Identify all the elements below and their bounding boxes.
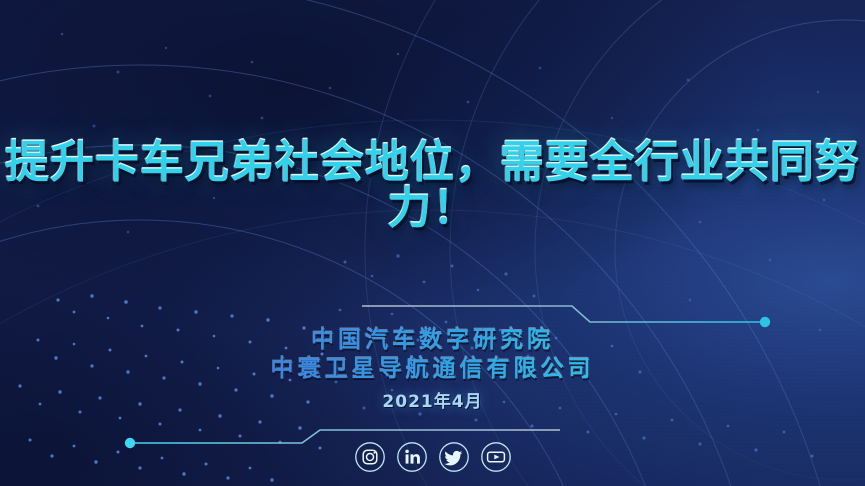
presentation-date: 2021年4月 [0,387,865,412]
decorative-connector-lines [0,0,865,486]
page-title: 提升卡车兄弟社会地位，需要全行业共同努力！ [0,140,865,232]
subtitle-container: 中国汽车数字研究院 中寰卫星导航通信有限公司 2021年4月 [0,326,865,412]
linkedin-icon[interactable] [396,441,428,473]
organization-name-primary: 中国汽车数字研究院 [0,326,865,355]
title-container: 提升卡车兄弟社会地位，需要全行业共同努力！ [0,140,865,232]
organization-name-secondary: 中寰卫星导航通信有限公司 [0,355,865,384]
presentation-slide: 提升卡车兄弟社会地位，需要全行业共同努力！ 中国汽车数字研究院 中寰卫星导航通信… [0,0,865,486]
social-icon-row [0,441,865,473]
youtube-icon[interactable] [480,441,512,473]
twitter-icon[interactable] [438,441,470,473]
instagram-icon[interactable] [354,441,386,473]
